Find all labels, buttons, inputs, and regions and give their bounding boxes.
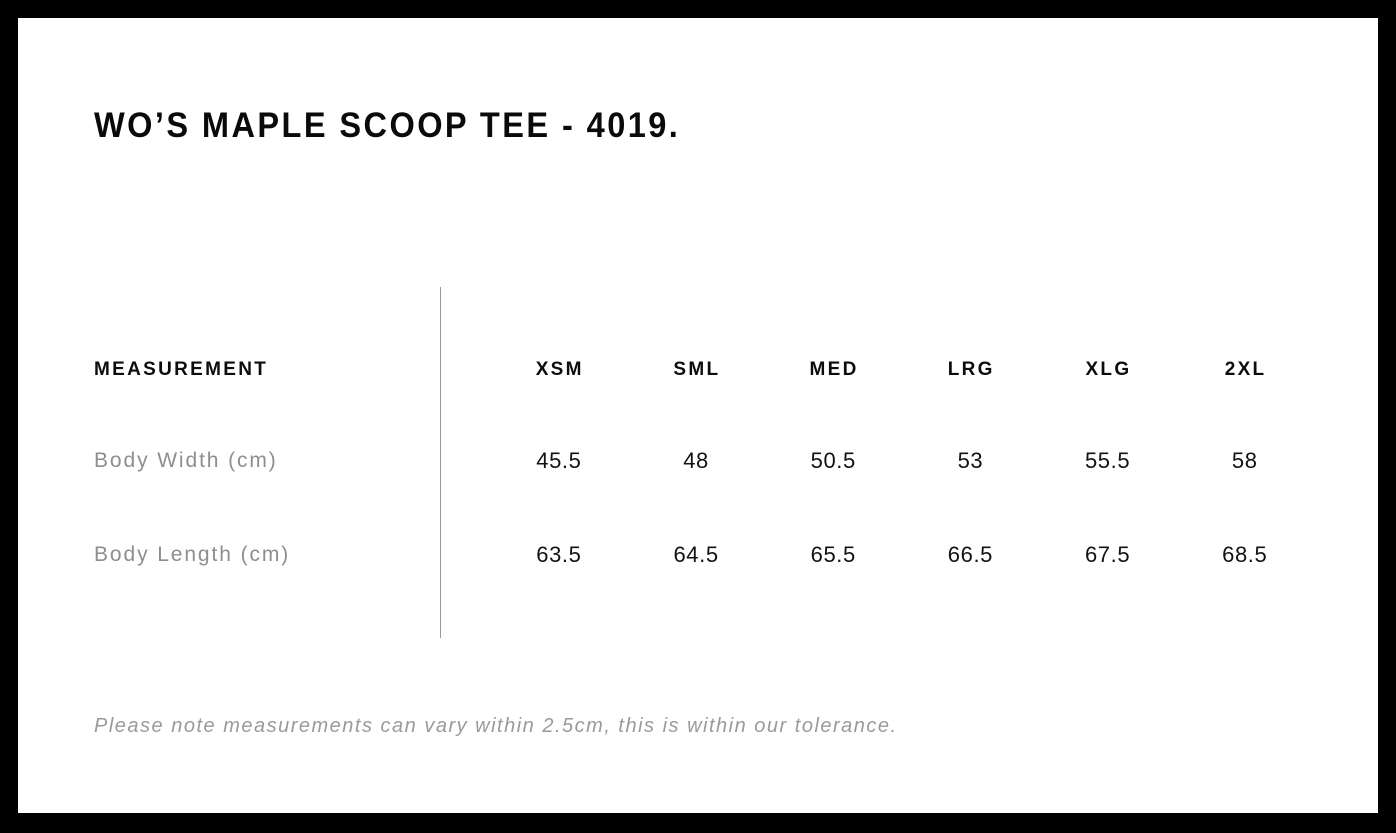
cell-body-length-xlg: 67.5 [1039, 535, 1176, 575]
tolerance-note: Please note measurements can vary within… [94, 715, 898, 738]
cell-body-width-lrg: 53 [902, 441, 1039, 481]
row-label-body-length: Body Length (cm) [94, 535, 290, 575]
cell-body-length-2xl: 68.5 [1176, 535, 1313, 575]
size-header-cells: XSM SML MED LRG XLG 2XL [490, 350, 1313, 390]
row-values-body-width: 45.5 48 50.5 53 55.5 58 [490, 441, 1313, 481]
row-values-body-length: 63.5 64.5 65.5 66.5 67.5 68.5 [490, 535, 1313, 575]
column-header-xlg: XLG [1039, 350, 1176, 390]
cell-body-width-xlg: 55.5 [1039, 441, 1176, 481]
column-header-med: MED [764, 350, 901, 390]
cell-body-length-med: 65.5 [764, 535, 901, 575]
table-row: Body Width (cm) 45.5 48 50.5 53 55.5 58 [18, 441, 1378, 481]
column-header-xsm: XSM [490, 350, 627, 390]
table-header-row: MEASUREMENT XSM SML MED LRG XLG 2XL [18, 350, 1378, 390]
row-label-body-width: Body Width (cm) [94, 441, 278, 481]
cell-body-width-xsm: 45.5 [490, 441, 627, 481]
size-chart-table: MEASUREMENT XSM SML MED LRG XLG 2XL Body… [18, 18, 1378, 813]
column-header-lrg: LRG [902, 350, 1039, 390]
cell-body-length-sml: 64.5 [627, 535, 764, 575]
column-header-measurement: MEASUREMENT [94, 350, 268, 390]
cell-body-width-med: 50.5 [764, 441, 901, 481]
cell-body-length-xsm: 63.5 [490, 535, 627, 575]
table-row: Body Length (cm) 63.5 64.5 65.5 66.5 67.… [18, 535, 1378, 575]
cell-body-width-sml: 48 [627, 441, 764, 481]
page-border: WO’S MAPLE SCOOP TEE - 4019. MEASUREMENT… [0, 0, 1396, 833]
cell-body-width-2xl: 58 [1176, 441, 1313, 481]
size-chart-card: WO’S MAPLE SCOOP TEE - 4019. MEASUREMENT… [18, 18, 1378, 813]
column-header-2xl: 2XL [1176, 350, 1313, 390]
column-header-sml: SML [627, 350, 764, 390]
cell-body-length-lrg: 66.5 [902, 535, 1039, 575]
